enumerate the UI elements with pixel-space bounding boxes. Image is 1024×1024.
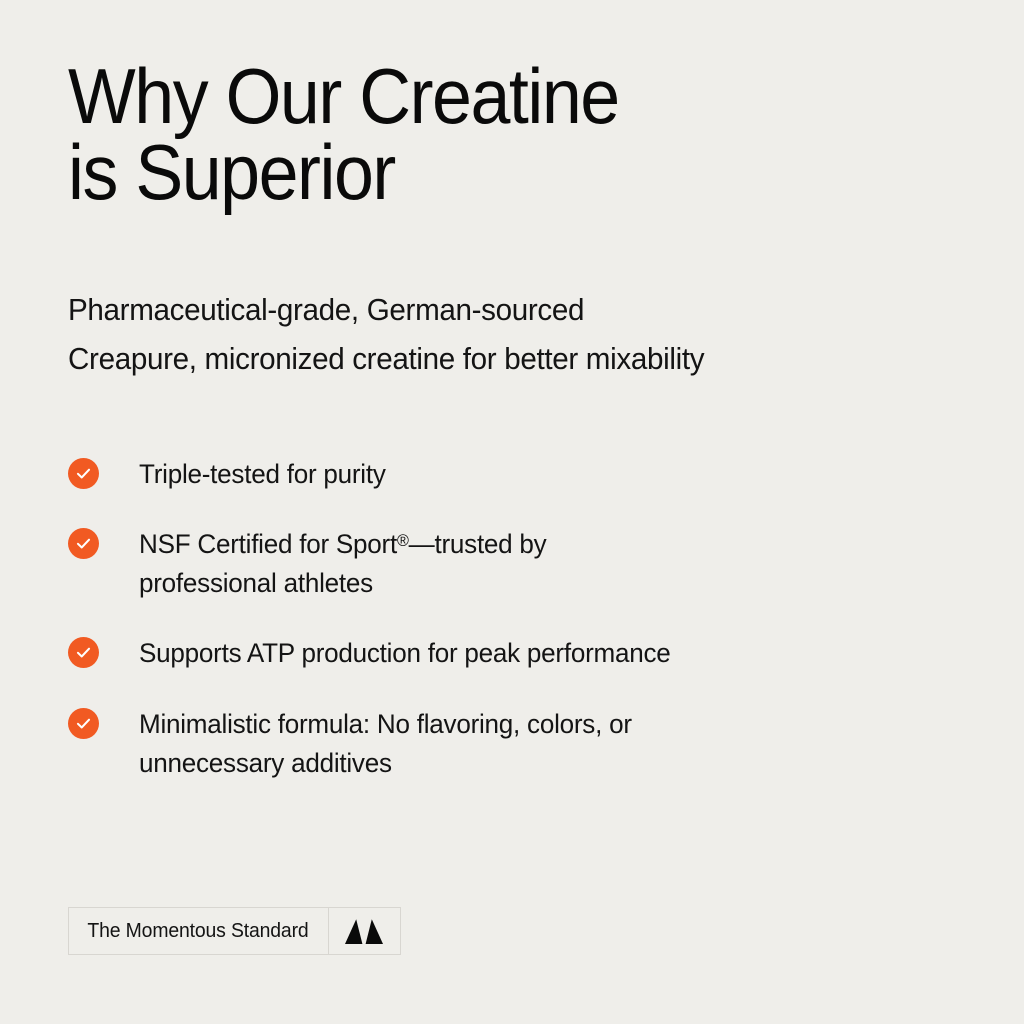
momentous-m-logo-icon bbox=[329, 908, 400, 954]
list-item-label: NSF Certified for Sport®—trusted by prof… bbox=[139, 525, 546, 603]
list-item: Minimalistic formula: No flavoring, colo… bbox=[68, 705, 964, 783]
list-item-label: Supports ATP production for peak perform… bbox=[139, 634, 671, 673]
benefits-list: Triple-tested for purity NSF Certified f… bbox=[68, 455, 964, 783]
list-item: Supports ATP production for peak perform… bbox=[68, 634, 964, 673]
list-item: NSF Certified for Sport®—trusted by prof… bbox=[68, 525, 964, 603]
check-circle-icon bbox=[68, 458, 99, 489]
check-circle-icon bbox=[68, 708, 99, 739]
registered-trademark-mark: ® bbox=[397, 531, 409, 550]
list-item: Triple-tested for purity bbox=[68, 455, 964, 494]
check-circle-icon bbox=[68, 637, 99, 668]
list-item-label: Minimalistic formula: No flavoring, colo… bbox=[139, 705, 632, 783]
standard-badge: The Momentous Standard bbox=[68, 907, 401, 955]
page-title: Why Our Creatine is Superior bbox=[68, 58, 619, 211]
list-item-label-part1: NSF Certified for Sport bbox=[139, 529, 397, 559]
promo-card: Why Our Creatine is Superior Pharmaceuti… bbox=[0, 0, 1024, 1024]
standard-badge-label: The Momentous Standard bbox=[73, 908, 324, 954]
list-item-label: Triple-tested for purity bbox=[139, 455, 386, 494]
check-circle-icon bbox=[68, 528, 99, 559]
subtitle: Pharmaceutical-grade, German-sourced Cre… bbox=[68, 286, 704, 384]
